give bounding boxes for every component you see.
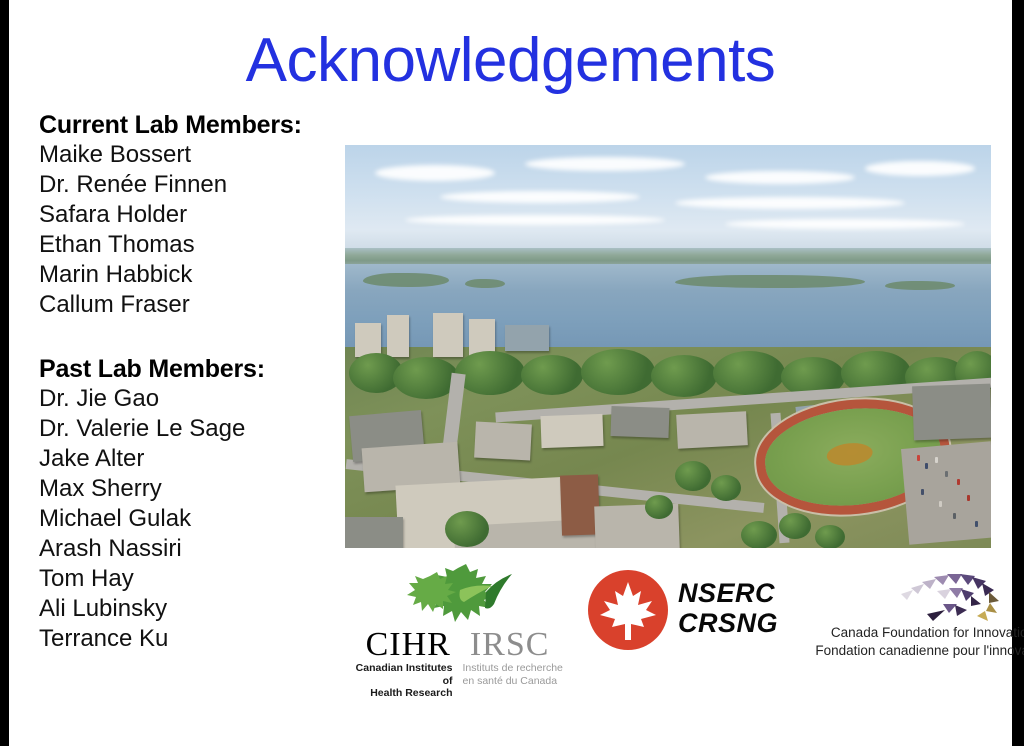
list-item: Michael Gulak (39, 504, 349, 534)
cihr-subtitle-en-line1: Canadian Institutes of (349, 662, 453, 687)
cihr-subtitle-fr-line1: Instituts de recherche (463, 662, 567, 675)
funder-logos-row: CIHR IRSC Canadian Institutes of Health … (345, 556, 1021, 696)
tree-canopy (521, 355, 583, 395)
list-item: Jake Alter (39, 444, 349, 474)
tree-canopy (741, 521, 777, 548)
building (912, 384, 991, 441)
list-item: Maike Bossert (39, 140, 349, 170)
car (921, 489, 924, 495)
building (345, 517, 403, 548)
tree-canopy (445, 511, 489, 547)
tree-canopy (779, 513, 811, 539)
list-item: Ali Lubinsky (39, 594, 349, 624)
group-spacer (39, 320, 349, 354)
slide-canvas: Acknowledgements Current Lab Members: Ma… (9, 0, 1012, 746)
tree-canopy (675, 461, 711, 491)
green-maple-leaf-icon (400, 562, 520, 628)
cfi-line-en: Canada Foundation for Innovation (803, 624, 1024, 642)
parking-lot (901, 441, 991, 544)
car (925, 463, 928, 469)
building (433, 313, 463, 357)
tree-canopy (455, 351, 525, 395)
arrow-fan-icon (893, 558, 1013, 622)
cloud (525, 157, 685, 171)
cloud (725, 219, 965, 229)
maple-leaf-glyph (588, 570, 668, 650)
building (387, 315, 409, 357)
presentation-slide: Acknowledgements Current Lab Members: Ma… (0, 0, 1024, 746)
building (676, 411, 748, 449)
tree-canopy (711, 475, 741, 501)
building (355, 323, 381, 357)
car (975, 521, 978, 527)
cloud (440, 191, 640, 203)
cloud (375, 165, 495, 181)
list-item: Dr. Renée Finnen (39, 170, 349, 200)
list-item: Tom Hay (39, 564, 349, 594)
past-members-heading: Past Lab Members: (39, 354, 349, 384)
car (939, 501, 942, 507)
current-members-group: Current Lab Members: Maike Bossert Dr. R… (39, 110, 349, 320)
page-title: Acknowledgements (9, 26, 1012, 96)
cloud (705, 171, 855, 184)
list-item: Callum Fraser (39, 290, 349, 320)
car (945, 471, 948, 477)
cihr-acronym-en: CIHR (366, 626, 451, 663)
building (540, 414, 603, 448)
cihr-acronym-fr: IRSC (470, 626, 550, 663)
tree-canopy (815, 525, 845, 548)
cfi-logo: Canada Foundation for Innovation Fondati… (845, 558, 1024, 670)
current-members-heading: Current Lab Members: (39, 110, 349, 140)
cihr-irsc-logo: CIHR IRSC Canadian Institutes of Health … (345, 562, 570, 694)
car (917, 455, 920, 461)
car (953, 513, 956, 519)
list-item: Safara Holder (39, 200, 349, 230)
list-item: Ethan Thomas (39, 230, 349, 260)
list-item: Dr. Valerie Le Sage (39, 414, 349, 444)
tree-canopy (581, 349, 655, 395)
cloud (865, 161, 975, 176)
aerial-campus-photo (345, 145, 991, 548)
cihr-subtitle-fr: Instituts de recherche en santé du Canad… (463, 662, 567, 700)
nserc-line-fr: CRSNG (678, 608, 778, 638)
shoreline-islet (363, 273, 449, 287)
building (610, 406, 669, 438)
nserc-crsng-logo: NSERC CRSNG (588, 570, 808, 652)
cihr-subtitle-fr-line2: en santé du Canada (463, 675, 567, 688)
cihr-subtitle-en-line2: Health Research (349, 687, 453, 700)
shoreline-islet (465, 279, 505, 288)
past-members-group: Past Lab Members: Dr. Jie Gao Dr. Valeri… (39, 354, 349, 654)
car (957, 479, 960, 485)
cihr-subtitles: Canadian Institutes of Health Research I… (345, 662, 570, 700)
list-item: Marin Habbick (39, 260, 349, 290)
cloud (405, 215, 665, 225)
tree-canopy (651, 355, 717, 397)
slide-left-border (0, 0, 9, 746)
shoreline-islet (885, 281, 955, 290)
nserc-wordmark: NSERC CRSNG (678, 578, 778, 638)
list-item: Max Sherry (39, 474, 349, 504)
tree-canopy (645, 495, 673, 519)
list-item: Terrance Ku (39, 624, 349, 654)
cfi-wordmark: Canada Foundation for Innovation Fondati… (803, 624, 1024, 660)
current-members-list: Maike Bossert Dr. Renée Finnen Safara Ho… (39, 140, 349, 320)
car (935, 457, 938, 463)
cihr-wordmark: CIHR IRSC (345, 626, 570, 664)
red-circle-maple-leaf-icon (588, 570, 668, 650)
car (967, 495, 970, 501)
lab-members-column: Current Lab Members: Maike Bossert Dr. R… (39, 110, 349, 654)
cihr-subtitle-en: Canadian Institutes of Health Research (349, 662, 453, 700)
nserc-line-en: NSERC (678, 578, 778, 608)
tree-canopy (713, 351, 785, 395)
building (505, 325, 549, 351)
past-members-list: Dr. Jie Gao Dr. Valerie Le Sage Jake Alt… (39, 384, 349, 654)
list-item: Arash Nassiri (39, 534, 349, 564)
list-item: Dr. Jie Gao (39, 384, 349, 414)
field-centre-logo (826, 441, 874, 468)
shoreline-islet (675, 275, 865, 288)
cloud (675, 197, 905, 209)
building (474, 422, 532, 461)
cfi-line-fr: Fondation canadienne pour l'innovation (803, 642, 1024, 660)
